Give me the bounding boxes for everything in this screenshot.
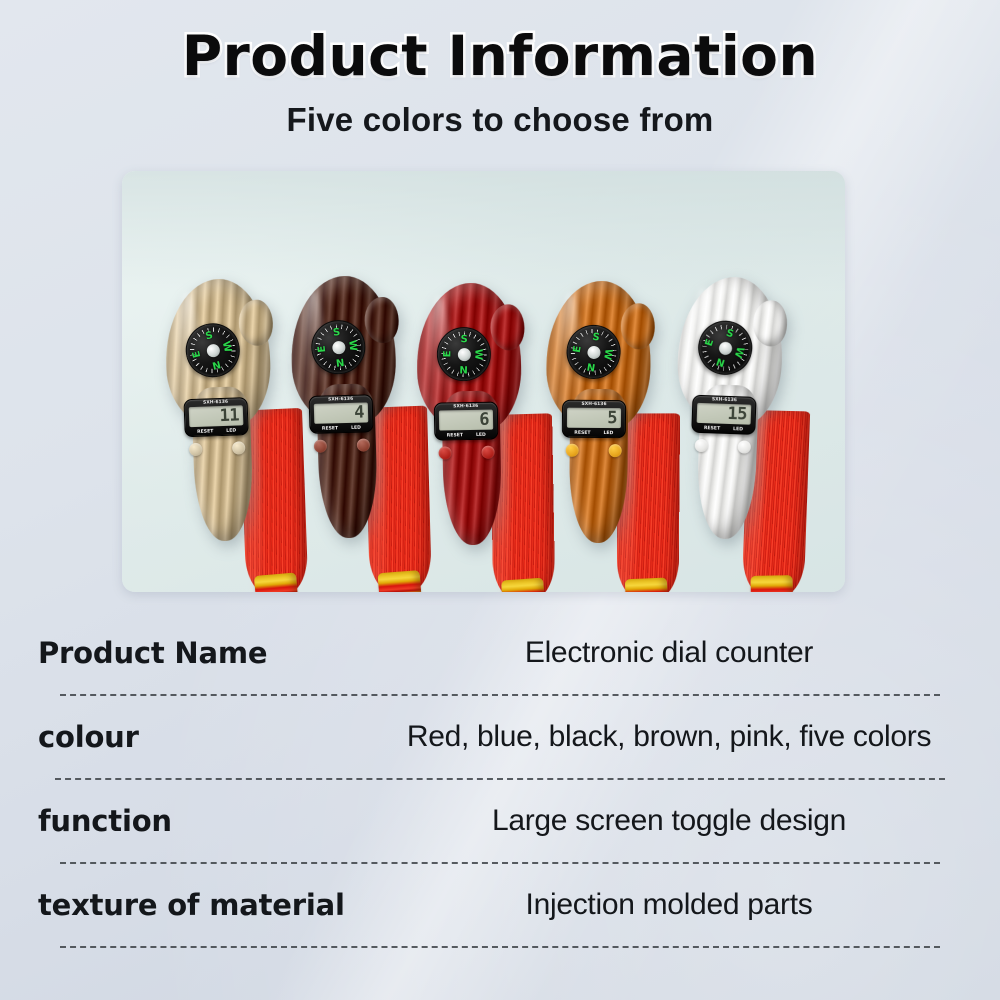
lcd-screen: 4 xyxy=(314,402,369,423)
led-label: LED xyxy=(603,431,613,436)
lcd-display-module: SXH-613611RESETLED xyxy=(183,397,248,437)
reset-button[interactable] xyxy=(189,443,202,456)
table-row: function Large screen toggle design xyxy=(0,780,1000,862)
body-knob xyxy=(490,304,525,351)
lcd-display-module: SXH-613615RESETLED xyxy=(691,395,756,435)
compass-east-label: E xyxy=(443,350,453,357)
body-knob xyxy=(364,297,399,344)
reset-button[interactable] xyxy=(695,439,708,452)
body-knob xyxy=(752,300,788,347)
lcd-screen: 11 xyxy=(189,405,244,427)
reset-label: RESET xyxy=(197,430,213,436)
lcd-count-value: 6 xyxy=(479,409,489,429)
spec-value-texture: Injection molded parts xyxy=(360,888,1000,922)
compass-west-label: W xyxy=(601,348,613,361)
tassel-band xyxy=(625,578,668,592)
led-button[interactable] xyxy=(357,438,370,451)
spec-value-function: Large screen toggle design xyxy=(360,804,1000,838)
lcd-display-module: SXH-61364RESETLED xyxy=(309,394,374,434)
led-label: LED xyxy=(226,429,236,434)
compass-west-label: W xyxy=(472,349,482,360)
spec-table: Product Name Electronic dial counter col… xyxy=(0,612,1000,948)
tassel-band xyxy=(378,570,422,592)
compass-east-label: E xyxy=(573,345,584,353)
lcd-display-module: SXH-61366RESETLED xyxy=(434,402,499,441)
compass-north-label: N xyxy=(586,360,596,371)
led-label: LED xyxy=(733,427,743,432)
compass-south-label: S xyxy=(333,328,341,339)
reset-label: RESET xyxy=(322,426,338,431)
spec-value-colour: Red, blue, black, brown, pink, five colo… xyxy=(360,720,1000,754)
spec-label-texture: texture of material xyxy=(0,888,360,922)
led-button[interactable] xyxy=(738,440,751,453)
table-row: texture of material Injection molded par… xyxy=(0,864,1000,946)
lcd-button-labels: RESETLED xyxy=(563,431,625,437)
compass-east-label: E xyxy=(317,345,328,353)
row-divider xyxy=(60,946,940,948)
spec-value-product-name: Electronic dial counter xyxy=(360,636,1000,670)
led-button[interactable] xyxy=(609,444,622,457)
beige-wood-counter: NSEWSXH-613611RESETLED xyxy=(157,277,286,551)
lcd-display-module: SXH-61365RESETLED xyxy=(562,400,626,439)
lcd-screen: 15 xyxy=(697,402,752,424)
compass-west-label: W xyxy=(346,340,357,352)
product-information-page: Product Information Five colors to choos… xyxy=(0,0,1000,1000)
lcd-count-value: 11 xyxy=(219,405,239,426)
compass-pivot xyxy=(331,340,345,354)
reset-button[interactable] xyxy=(314,440,327,453)
lcd-count-value: 5 xyxy=(607,408,617,428)
table-row: colour Red, blue, black, brown, pink, fi… xyxy=(0,696,1000,778)
spec-label-colour: colour xyxy=(0,720,360,754)
reset-button[interactable] xyxy=(438,446,451,459)
compass-south-label: S xyxy=(460,335,467,345)
lcd-count-value: 15 xyxy=(727,403,747,424)
spec-label-product-name: Product Name xyxy=(0,636,360,670)
compass-north-label: N xyxy=(335,356,344,367)
led-button[interactable] xyxy=(232,441,245,454)
tassel-band xyxy=(501,578,545,592)
reset-label: RESET xyxy=(574,431,590,436)
reset-button[interactable] xyxy=(566,444,579,457)
lcd-button-labels: RESETLED xyxy=(692,426,754,433)
tassel-band xyxy=(254,572,298,592)
red-counter: NSEWSXH-61366RESETLED xyxy=(410,282,535,554)
compass-north-label: N xyxy=(459,363,468,373)
compass-pivot xyxy=(457,348,470,361)
page-title: Product Information xyxy=(0,24,1000,88)
lcd-screen: 5 xyxy=(567,407,621,427)
button-pair xyxy=(314,438,370,452)
tassel-band xyxy=(751,575,794,592)
button-pair xyxy=(566,444,622,457)
white-counter: NSEWSXH-613615RESETLED xyxy=(665,275,794,549)
orange-wood-counter: NSEWSXH-61365RESETLED xyxy=(539,280,661,551)
led-label: LED xyxy=(351,426,361,431)
spec-label-function: function xyxy=(0,804,360,838)
table-row: Product Name Electronic dial counter xyxy=(0,612,1000,694)
product-lineup: NSEWSXH-613611RESETLEDNSEWSXH-61364RESET… xyxy=(122,171,845,592)
page-subtitle: Five colors to choose from xyxy=(0,101,1000,139)
lcd-button-labels: RESETLED xyxy=(310,426,372,433)
lcd-button-labels: RESETLED xyxy=(186,428,248,435)
button-pair xyxy=(189,441,245,456)
reset-label: RESET xyxy=(704,426,720,432)
dark-brown-counter: NSEWSXH-61364RESETLED xyxy=(283,274,410,547)
product-photo-panel: NSEWSXH-613611RESETLEDNSEWSXH-61364RESET… xyxy=(122,171,845,592)
led-label: LED xyxy=(476,433,486,438)
button-pair xyxy=(438,446,494,460)
body-knob xyxy=(621,303,655,349)
lcd-count-value: 4 xyxy=(354,402,364,422)
led-button[interactable] xyxy=(481,446,494,459)
lcd-button-labels: RESETLED xyxy=(435,433,497,439)
compass-west-label: W xyxy=(220,340,232,353)
lcd-screen: 6 xyxy=(439,409,493,430)
reset-label: RESET xyxy=(447,433,463,438)
lcd-brand-label: SXH-6136 xyxy=(563,401,625,407)
button-pair xyxy=(695,439,751,454)
